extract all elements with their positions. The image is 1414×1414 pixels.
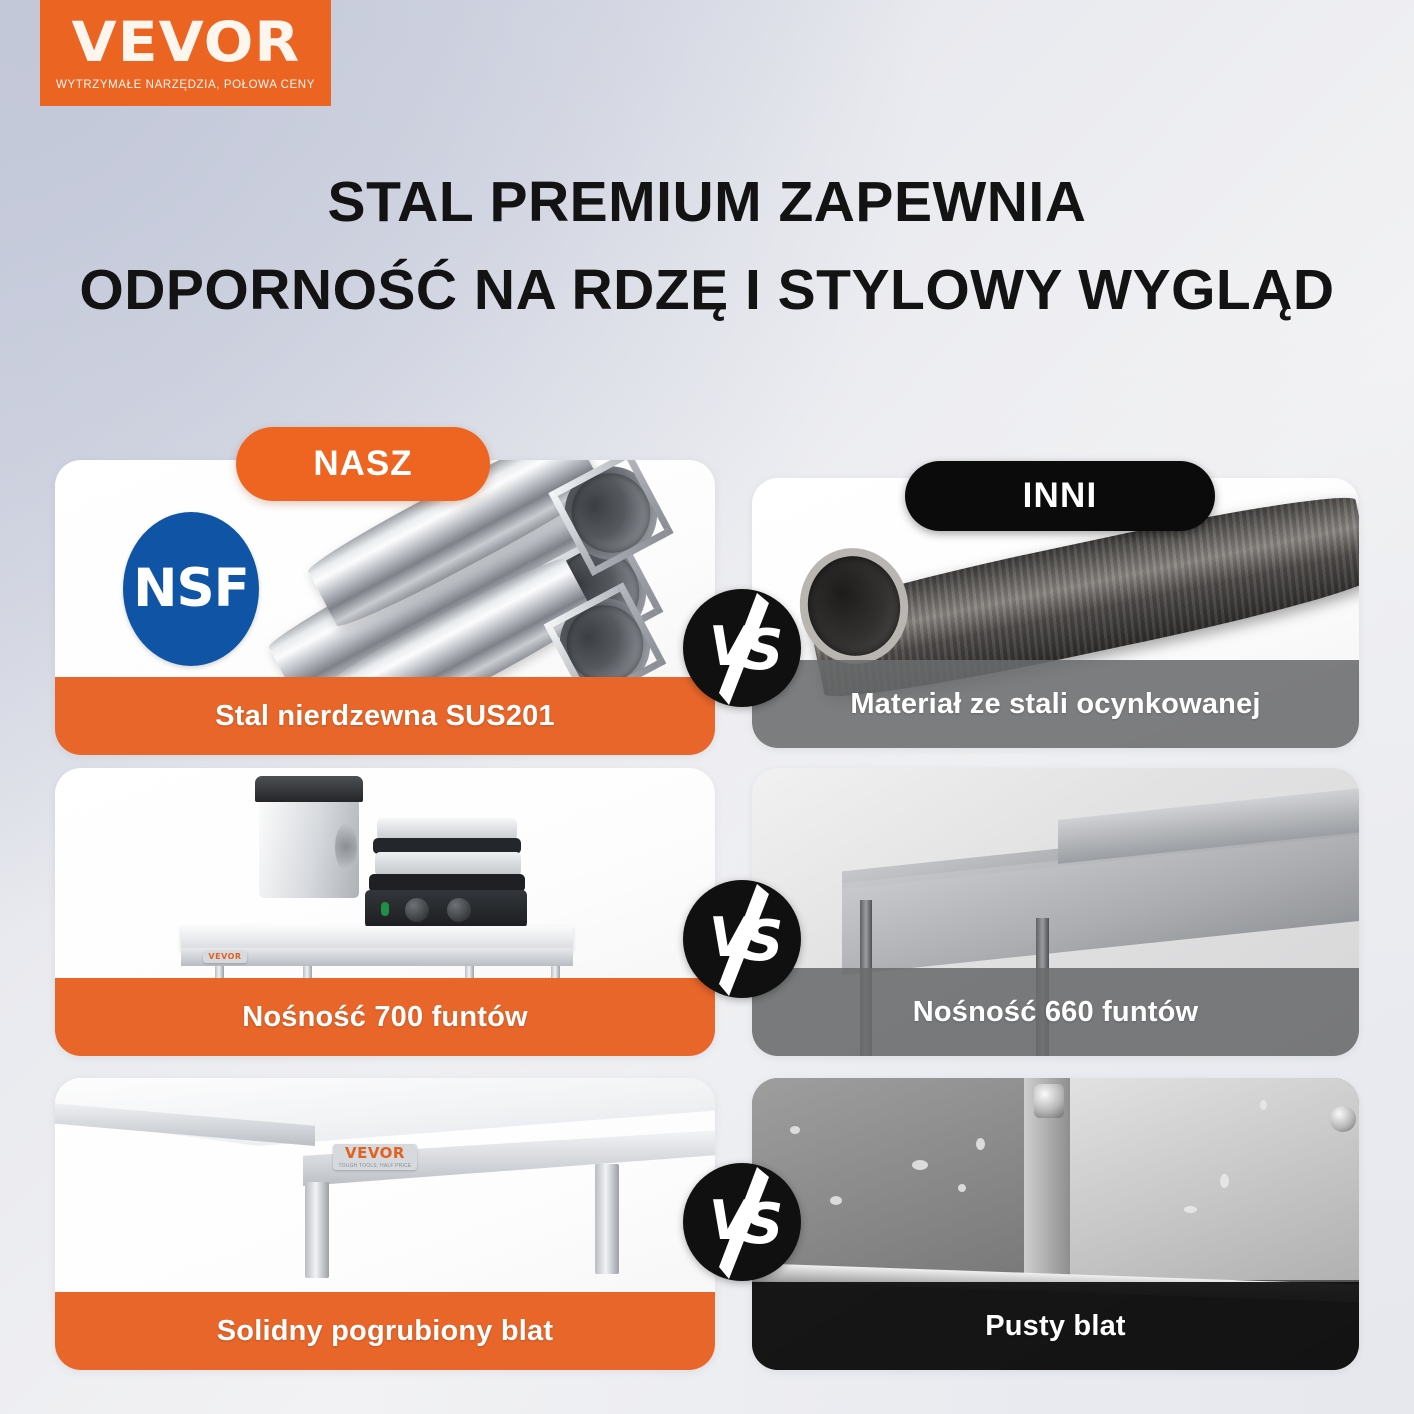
nsf-label: NSF: [133, 558, 249, 619]
brand-logo: VEVOR WYTRZYMAŁE NARZĘDZIA, POŁOWA CENY: [40, 0, 331, 106]
vs-badge-row-2: V S: [683, 880, 801, 998]
badge-ours: NASZ: [236, 427, 490, 501]
nsf-certification-logo: NSF: [123, 512, 259, 666]
vs-badge-row-1: V S: [683, 589, 801, 707]
promo-page: VEVOR WYTRZYMAŁE NARZĘDZIA, POŁOWA CENY …: [0, 0, 1414, 1414]
vs-badge-row-3: V S: [683, 1163, 801, 1281]
ours-caption-row-2: Nośność 700 funtów: [55, 978, 715, 1056]
vevor-badge-word: VEVOR: [345, 1146, 405, 1161]
vevor-table-badge: VEVOR TOUGH TOOLS, HALF PRICE: [333, 1144, 417, 1170]
others-card-row-3: Pusty blat: [752, 1078, 1359, 1370]
ours-card-row-1: NSF Stal nierdzewna SUS201: [55, 460, 715, 755]
others-card-row-2: Nośność 660 funtów: [752, 768, 1359, 1056]
headline-line-2: ODPORNOŚĆ NA RDZĘ I STYLOWY WYGLĄD: [0, 253, 1414, 327]
badge-others: INNI: [905, 461, 1215, 531]
brand-tagline: WYTRZYMAŁE NARZĘDZIA, POŁOWA CENY: [56, 79, 315, 91]
ours-card-row-2: VEVOR Nośność 700 funtów: [55, 768, 715, 1056]
page-title: STAL PREMIUM ZAPEWNIA ODPORNOŚĆ NA RDZĘ …: [0, 165, 1414, 327]
others-caption-row-3: Pusty blat: [752, 1282, 1359, 1370]
ours-card-row-3: VEVOR TOUGH TOOLS, HALF PRICE Solidny po…: [55, 1078, 715, 1370]
others-caption-row-2: Nośność 660 funtów: [752, 968, 1359, 1056]
ours-caption-row-1: Stal nierdzewna SUS201: [55, 677, 715, 755]
brand-wordmark: VEVOR: [71, 15, 300, 70]
ours-caption-row-3: Solidny pogrubiony blat: [55, 1292, 715, 1370]
others-caption-row-1: Materiał ze stali ocynkowanej: [752, 660, 1359, 748]
vevor-badge-sub: TOUGH TOOLS, HALF PRICE: [339, 1163, 412, 1169]
headline-line-1: STAL PREMIUM ZAPEWNIA: [0, 165, 1414, 239]
